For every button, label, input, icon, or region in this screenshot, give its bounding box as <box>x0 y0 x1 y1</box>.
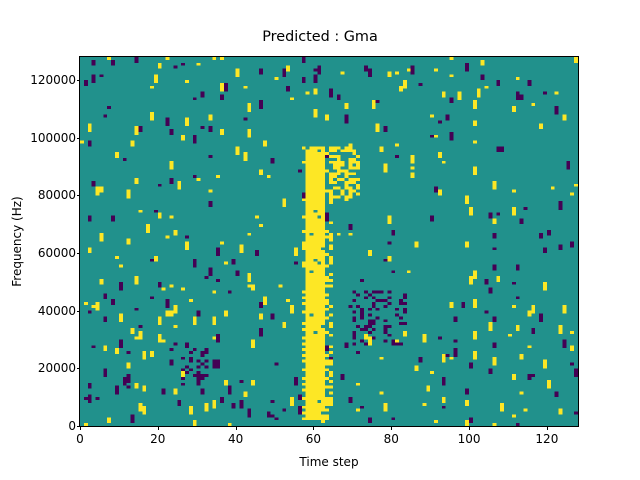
y-tick-label: 120000 <box>30 73 76 87</box>
x-tick-mark <box>547 426 548 430</box>
y-tick-label: 20000 <box>38 361 76 375</box>
x-tick-mark <box>80 426 81 430</box>
matplotlib-figure: Predicted : Gma 020406080100120 02000040… <box>0 0 640 480</box>
x-tick-label: 0 <box>76 432 84 446</box>
heatmap-axes <box>79 56 579 427</box>
y-tick-label: 0 <box>68 419 76 433</box>
x-tick-mark <box>158 426 159 430</box>
y-tick-mark <box>77 195 81 196</box>
x-axis-label: Time step <box>80 455 578 469</box>
y-tick-mark <box>77 311 81 312</box>
x-tick-label: 120 <box>535 432 558 446</box>
x-tick-label: 80 <box>384 432 399 446</box>
x-tick-label: 40 <box>228 432 243 446</box>
y-tick-label: 40000 <box>38 304 76 318</box>
y-tick-label: 100000 <box>30 131 76 145</box>
x-tick-mark <box>391 426 392 430</box>
y-tick-mark <box>77 138 81 139</box>
x-tick-label: 100 <box>458 432 481 446</box>
page-title: Predicted : Gma <box>0 30 640 44</box>
y-axis-label: Frequency (Hz) <box>10 57 24 426</box>
y-tick-mark <box>77 253 81 254</box>
x-tick-mark <box>313 426 314 430</box>
x-tick-mark <box>236 426 237 430</box>
y-tick-mark <box>77 368 81 369</box>
y-tick-mark <box>77 80 81 81</box>
x-tick-label: 20 <box>150 432 165 446</box>
y-tick-label: 60000 <box>38 246 76 260</box>
x-tick-mark <box>469 426 470 430</box>
y-tick-mark <box>77 426 81 427</box>
x-tick-label: 60 <box>306 432 321 446</box>
y-tick-label: 80000 <box>38 188 76 202</box>
heatmap-image <box>80 57 578 426</box>
